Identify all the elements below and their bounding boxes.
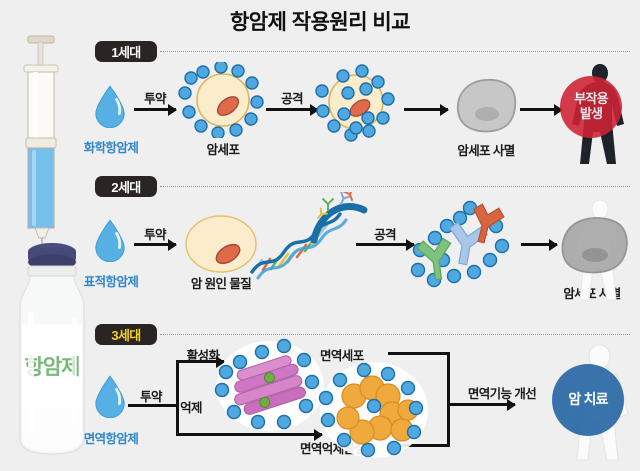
result-line-1: 암 치료 [568, 392, 607, 408]
branch-stem-gen3 [128, 404, 178, 407]
immune-cell-icon-gen3 [214, 338, 326, 434]
result-badge-gen1: 부작용 발생 [560, 76, 622, 138]
node-label-gen1-dead-cell: 암세포 사멸 [457, 140, 514, 159]
arrow-label-gen2-0: 투약 [144, 224, 166, 243]
divider-line-3 [160, 334, 630, 335]
arrow-label-gen3-0: 투약 [140, 386, 162, 405]
arrow-label-gen3-final: 면역기능 개선 [468, 383, 536, 402]
result-line-2: 발생 [580, 107, 602, 122]
drug-label-gen1: 화학항암제 [84, 137, 139, 156]
result-line-1: 부작용 [574, 92, 607, 107]
branch-label-down-gen3: 억제 [180, 397, 202, 416]
divider-line-1 [160, 51, 630, 52]
divider-line-2 [160, 186, 630, 187]
arrow-gen3-final [447, 403, 515, 406]
branch-vert-gen3 [176, 360, 179, 436]
arrow-gen1-2 [404, 108, 448, 111]
gen-badge-3: 3세대 [95, 324, 157, 345]
node-label-gen1-cancer-cell: 암세포 [207, 139, 240, 158]
result-badge-gen3: 암 치료 [552, 364, 624, 436]
arrow-gen1-0 [134, 108, 176, 111]
page-title: 항암제 작용원리 비교 [0, 6, 640, 36]
vial-icon: 항암제 [6, 232, 98, 464]
arrow-label-gen1-0: 투약 [144, 88, 166, 107]
dead-cell-icon-gen1 [452, 74, 520, 136]
arrow-label-gen2-1: 공격 [374, 224, 396, 243]
syringe-icon [6, 32, 82, 262]
water-drop-icon-gen2 [93, 218, 127, 262]
arrow-gen1-3 [520, 108, 562, 111]
infographic-canvas: 항암제 작용원리 비교 항암제 [0, 0, 640, 471]
cancer-cell-icon-gen1 [178, 62, 268, 138]
arrow-label-gen1-1: 공격 [281, 88, 303, 107]
collector-top-gen3 [388, 352, 450, 355]
water-drop-icon-gen1 [93, 84, 127, 128]
gen-badge-2: 2세대 [95, 176, 157, 197]
collector-vert-gen3 [447, 352, 450, 447]
dna-helix-icon-gen2 [248, 192, 374, 282]
cancer-cell-attacked-icon-gen1 [310, 62, 402, 142]
gen-badge-1: 1세대 [95, 41, 157, 62]
water-drop-icon-gen3 [93, 374, 127, 418]
immune-suppressor-icon-gen3 [316, 358, 432, 462]
arrow-gen2-0 [134, 243, 176, 246]
dead-cell-icon-gen2 [556, 212, 632, 278]
antibody-cluster-icon-gen2 [408, 198, 530, 294]
